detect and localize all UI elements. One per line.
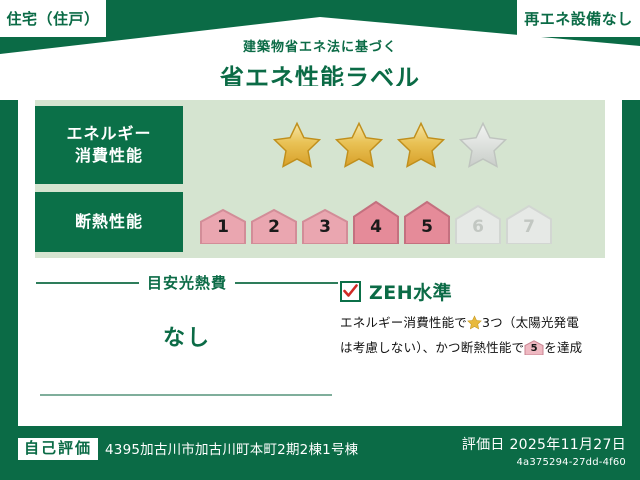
zeh-description: エネルギー消費性能で3つ（太陽光発電は考慮しない）、かつ断熱性能で5を達成 (340, 312, 612, 359)
heading-rule-right (235, 282, 338, 284)
mini-star-icon (467, 315, 482, 337)
energy-label-line2: 消費性能 (75, 145, 143, 167)
star-filled-icon (271, 120, 323, 170)
zeh-heading: ZEH水準 (340, 278, 612, 305)
step-value: 2 (268, 217, 280, 244)
insulation-step: 3 (301, 208, 349, 244)
evaluation-id: 4a375294-27dd-4f60 (462, 457, 626, 468)
zeh-checkbox[interactable] (340, 281, 361, 302)
footer-right: 評価日 2025年11月27日 4a375294-27dd-4f60 (462, 434, 626, 468)
insulation-step: 2 (250, 208, 298, 244)
star-filled-icon (333, 120, 385, 170)
insulation-performance-value: 1234567 (183, 192, 605, 252)
label-card: エネルギー 消費性能 断熱性能 1234567 目安光熱費 なし (18, 86, 622, 426)
step-value: 7 (523, 217, 535, 244)
zeh-desc-part3: を達成 (544, 340, 582, 355)
self-assessment-badge: 自己評価 (18, 438, 98, 460)
energy-performance-label: エネルギー 消費性能 (35, 106, 183, 184)
lower-section: 目安光熱費 なし ZEH水準 エネルギー消費性能で3つ（太陽光発電は考慮しない）… (18, 272, 622, 426)
evaluation-date-label: 評価日 (462, 437, 505, 453)
insulation-step-scale: 1234567 (199, 200, 553, 244)
step-value: 4 (370, 217, 382, 244)
insulation-badge-value: 5 (524, 340, 544, 355)
insulation-label-text: 断熱性能 (75, 211, 143, 233)
step-value: 1 (217, 217, 229, 244)
energy-label-line1: エネルギー (66, 123, 151, 145)
utility-cost-divider (40, 394, 332, 396)
title-subtitle: 建築物省エネ法に基づく (0, 36, 640, 55)
utility-cost-heading: 目安光熱費 (36, 272, 338, 293)
insulation-performance-label: 断熱性能 (35, 192, 183, 252)
insulation-step: 7 (505, 204, 553, 244)
zeh-desc-part2: は考慮しない）、かつ断熱性能で (340, 340, 524, 355)
check-icon (343, 284, 358, 299)
evaluation-date-value: 2025年11月27日 (509, 437, 626, 453)
star-rating (271, 120, 509, 170)
footer: 自己評価 4395加古川市加古川町本町2期2棟1号棟 評価日 2025年11月2… (0, 426, 640, 480)
page-title: 建築物省エネ法に基づく 省エネ性能ラベル (0, 36, 640, 93)
step-value: 5 (421, 217, 433, 244)
tag-renewable-energy: 再エネ設備なし (517, 0, 640, 37)
insulation-step: 1 (199, 208, 247, 244)
insulation-performance-row: 断熱性能 1234567 (35, 192, 605, 252)
tag-building-type: 住宅（住戸） (0, 0, 106, 37)
zeh-desc-stars: 3つ（太陽光発電 (482, 315, 579, 330)
star-filled-icon (395, 120, 447, 170)
zeh-title: ZEH水準 (369, 278, 452, 305)
utility-cost-heading-text: 目安光熱費 (147, 272, 227, 293)
step-value: 3 (319, 217, 331, 244)
zeh-desc-part1: エネルギー消費性能で (340, 315, 467, 330)
evaluation-date: 評価日 2025年11月27日 (462, 434, 626, 454)
insulation-step: 4 (352, 200, 400, 244)
insulation-badge-icon: 5 (524, 340, 544, 355)
footer-left: 自己評価 4395加古川市加古川町本町2期2棟1号棟 (18, 438, 358, 460)
property-address: 4395加古川市加古川町本町2期2棟1号棟 (105, 438, 358, 460)
energy-performance-row: エネルギー 消費性能 (35, 106, 605, 184)
star-empty-icon (457, 120, 509, 170)
energy-performance-value (183, 106, 605, 184)
utility-cost-value: なし (36, 320, 338, 352)
insulation-step: 5 (403, 200, 451, 244)
heading-rule-left (36, 282, 139, 284)
zeh-section: ZEH水準 エネルギー消費性能で3つ（太陽光発電は考慮しない）、かつ断熱性能で5… (340, 278, 612, 359)
performance-panel: エネルギー 消費性能 断熱性能 1234567 (35, 100, 605, 258)
step-value: 6 (472, 217, 484, 244)
insulation-step: 6 (454, 204, 502, 244)
